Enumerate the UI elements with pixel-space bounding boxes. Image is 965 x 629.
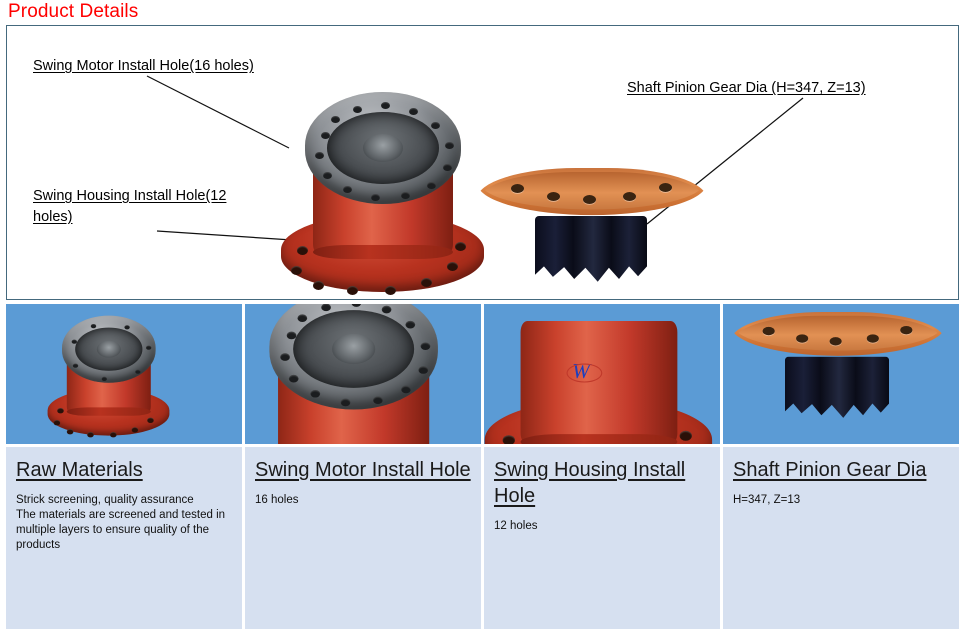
motor-install-hole — [331, 116, 340, 123]
page-title: Product Details — [8, 1, 138, 23]
motor-install-hole — [297, 314, 307, 322]
housing-install-hole — [680, 431, 692, 441]
feature-title-text: Swing Housing Install Hole — [494, 459, 685, 507]
pinion-bolt-hole — [547, 192, 560, 201]
housing-body — [521, 321, 678, 444]
motor-install-hole — [418, 366, 428, 374]
pinion-bolt-hole — [623, 192, 636, 201]
pinion-teeth — [785, 357, 889, 422]
thumbnail-shaft-pinion-gear[interactable] — [723, 304, 959, 444]
thumbnail-swing-housing-install-hole[interactable]: W — [484, 304, 720, 444]
motor-install-hole — [124, 325, 129, 329]
sun-gear — [332, 334, 375, 364]
callout-swing-housing-install-hole-text: Swing Housing Install Hole(12 holes) — [33, 188, 226, 225]
motor-install-hole — [341, 399, 351, 407]
motor-install-hole — [135, 370, 140, 374]
flange-bolt-hole — [297, 246, 308, 255]
feature-raw-materials: Raw Materials Strick screening, quality … — [6, 447, 242, 629]
motor-install-hole — [343, 186, 352, 193]
feature-title-text: Raw Materials — [16, 459, 143, 481]
feature-shaft-pinion-gear-dia: Shaft Pinion Gear Dia H=347, Z=13 — [723, 447, 959, 629]
flange-bolt-hole — [455, 242, 466, 251]
pinion-bolt-hole — [796, 334, 808, 342]
gearbox-assembly-thumb-image: W — [44, 312, 173, 439]
pinion-bolt-hole — [511, 184, 524, 193]
shaft-pinion-gear-thumb-image — [731, 312, 945, 422]
flange-bolt-hole — [447, 262, 458, 271]
swing-housing-install-hole-thumb-image: W — [484, 304, 719, 444]
feature-body: Strick screening, quality assurance The … — [16, 493, 232, 553]
pinion-bolt-hole — [763, 327, 775, 335]
callout-swing-motor-install-hole: Swing Motor Install Hole(16 holes) — [33, 56, 254, 77]
brand-logo: W — [572, 360, 590, 385]
feature-title-text: Shaft Pinion Gear Dia — [733, 459, 926, 481]
motor-install-hole — [427, 182, 436, 189]
callout-swing-motor-install-hole-text: Swing Motor Install Hole(16 holes) — [33, 58, 254, 74]
swing-gearbox-assembly-image: W — [275, 86, 490, 298]
motor-install-hole — [421, 342, 431, 350]
thumbnail-swing-motor-install-hole[interactable] — [245, 304, 481, 444]
motor-install-hole — [373, 396, 383, 404]
motor-install-hole — [409, 108, 418, 115]
motor-install-hole — [445, 142, 454, 149]
feature-swing-housing-install-hole: Swing Housing Install Hole 12 holes — [484, 447, 720, 629]
motor-install-hole — [102, 377, 107, 381]
motor-install-hole — [443, 164, 452, 171]
motor-install-hole — [382, 306, 392, 314]
pinion-bolt-hole — [830, 337, 842, 345]
flange-bolt-hole — [87, 432, 94, 437]
flange-bolt-hole — [347, 286, 358, 295]
pinion-teeth — [535, 216, 647, 286]
motor-install-hole — [371, 194, 380, 201]
hero-panel: Swing Motor Install Hole(16 holes) Swing… — [6, 25, 959, 300]
pinion-bolt-hole — [867, 334, 879, 342]
motor-install-hole — [321, 304, 331, 311]
motor-install-hole — [381, 102, 390, 109]
sun-gear — [97, 341, 121, 358]
pinion-bolt-hole — [900, 326, 912, 334]
flange-bolt-hole — [385, 286, 396, 295]
flange-bolt-hole — [132, 427, 139, 432]
housing-install-hole — [503, 435, 515, 444]
motor-install-hole — [323, 172, 332, 179]
motor-install-hole — [431, 122, 440, 129]
feature-body: 12 holes — [494, 519, 710, 534]
motor-install-hole — [280, 353, 290, 361]
feature-title-text: Swing Motor Install Hole — [255, 459, 471, 481]
feature-title: Shaft Pinion Gear Dia — [733, 457, 949, 483]
motor-install-hole — [405, 321, 415, 329]
swing-motor-install-hole-thumb-image — [245, 304, 469, 444]
flange-bolt-hole — [313, 281, 324, 290]
feature-body: H=347, Z=13 — [733, 493, 949, 508]
flange-bolt-hole — [421, 278, 432, 287]
feature-title: Swing Housing Install Hole — [494, 457, 710, 509]
flange-bolt-hole — [147, 418, 154, 423]
feature-swing-motor-install-hole: Swing Motor Install Hole 16 holes — [245, 447, 481, 629]
motor-install-hole — [315, 152, 324, 159]
motor-install-hole — [353, 106, 362, 113]
flange-bolt-hole — [67, 429, 74, 434]
shaft-pinion-gear-image — [477, 168, 707, 286]
flange-bolt-hole — [110, 432, 117, 437]
thumbnail-strip: W — [6, 304, 959, 444]
motor-install-hole — [72, 340, 77, 344]
callout-shaft-pinion-gear-dia: Shaft Pinion Gear Dia (H=347, Z=13) — [627, 78, 866, 99]
feature-title: Raw Materials — [16, 457, 232, 483]
motor-install-hole — [401, 386, 411, 394]
feature-body: 16 holes — [255, 493, 471, 508]
motor-install-hole — [289, 375, 299, 383]
motor-install-hole — [91, 324, 96, 328]
sun-gear — [363, 134, 403, 162]
flange-bolt-hole — [57, 408, 64, 413]
motor-install-hole — [73, 364, 78, 368]
pinion-bolt-hole — [659, 183, 672, 192]
motor-install-hole — [287, 332, 297, 340]
flange-bolt-hole — [291, 266, 302, 275]
motor-install-hole — [146, 346, 151, 350]
motor-install-hole — [401, 192, 410, 199]
pinion-bolt-hole — [583, 195, 596, 204]
callout-shaft-pinion-gear-dia-text: Shaft Pinion Gear Dia (H=347, Z=13) — [627, 80, 866, 96]
flange-bolt-hole — [54, 420, 61, 425]
callout-swing-housing-install-hole: Swing Housing Install Hole(12 holes) — [33, 186, 233, 228]
feature-description-strip: Raw Materials Strick screening, quality … — [6, 447, 959, 629]
motor-install-hole — [310, 390, 320, 398]
product-details-page: Product Details Swing Motor Install Hole… — [0, 0, 965, 629]
motor-install-hole — [321, 132, 330, 139]
thumbnail-gearbox-assembly[interactable]: W — [6, 304, 242, 444]
feature-title: Swing Motor Install Hole — [255, 457, 471, 483]
